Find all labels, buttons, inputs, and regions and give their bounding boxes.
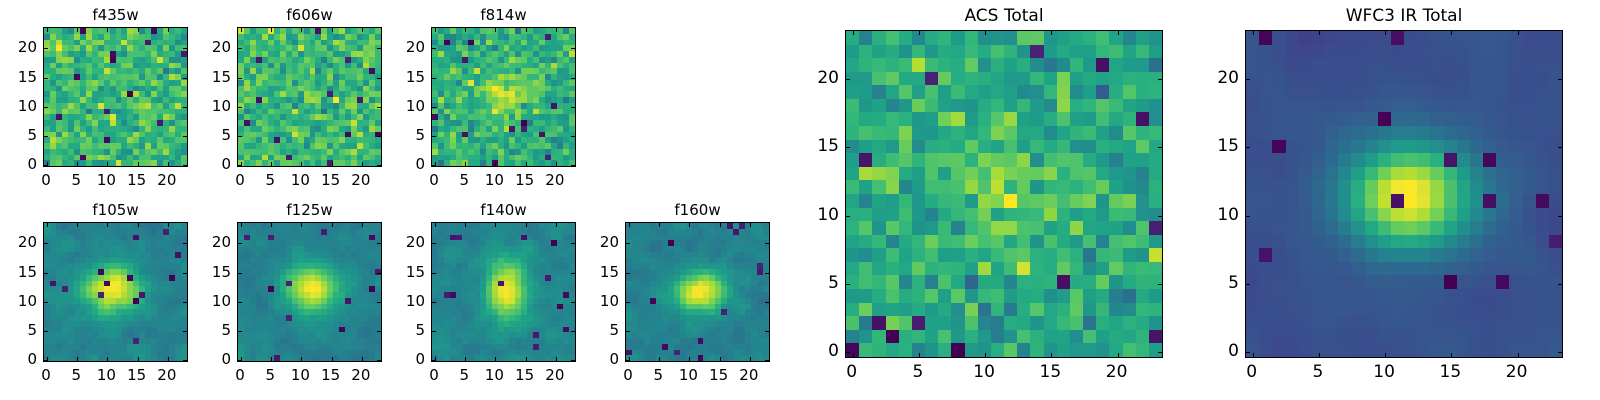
x-tick bbox=[107, 223, 108, 227]
x-tick-label: 20 bbox=[351, 171, 370, 189]
y-tick bbox=[183, 302, 187, 303]
panel-title: f814w bbox=[431, 6, 576, 24]
y-tick-label: 20 bbox=[201, 233, 231, 251]
y-tick-label: 10 bbox=[589, 292, 619, 310]
x-tick bbox=[138, 357, 139, 361]
heatmap-axes bbox=[845, 30, 1163, 358]
x-tick bbox=[271, 162, 272, 166]
x-tick bbox=[1518, 353, 1519, 357]
x-tick bbox=[1118, 353, 1119, 357]
y-tick bbox=[432, 165, 436, 166]
x-tick bbox=[985, 353, 986, 357]
y-tick bbox=[1246, 216, 1250, 217]
y-tick bbox=[1558, 147, 1562, 148]
y-tick bbox=[1558, 352, 1562, 353]
y-tick bbox=[377, 78, 381, 79]
y-tick bbox=[377, 136, 381, 137]
y-tick bbox=[238, 165, 242, 166]
x-tick bbox=[1253, 31, 1254, 35]
x-tick-label: 5 bbox=[1312, 362, 1323, 382]
heatmap-axes bbox=[625, 222, 770, 362]
x-tick bbox=[77, 28, 78, 32]
y-tick-label: 20 bbox=[1209, 68, 1239, 88]
y-tick bbox=[183, 331, 187, 332]
x-tick bbox=[107, 28, 108, 32]
y-tick-label: 5 bbox=[395, 321, 425, 339]
y-tick bbox=[432, 107, 436, 108]
y-tick-label: 10 bbox=[201, 97, 231, 115]
y-tick bbox=[1558, 284, 1562, 285]
y-tick-label: 15 bbox=[201, 263, 231, 281]
x-tick bbox=[301, 357, 302, 361]
x-tick-label: 15 bbox=[321, 171, 340, 189]
y-tick-label: 5 bbox=[201, 321, 231, 339]
x-tick bbox=[1051, 353, 1052, 357]
y-tick-label: 15 bbox=[7, 263, 37, 281]
y-tick bbox=[377, 302, 381, 303]
y-tick bbox=[183, 165, 187, 166]
x-tick bbox=[1051, 31, 1052, 35]
panel-title: f105w bbox=[43, 201, 188, 219]
y-tick-label: 20 bbox=[395, 38, 425, 56]
x-tick bbox=[629, 223, 630, 227]
y-tick-label: 10 bbox=[7, 292, 37, 310]
x-tick bbox=[1385, 353, 1386, 357]
heatmap-cells bbox=[432, 28, 575, 166]
y-tick bbox=[377, 243, 381, 244]
panel-title: f140w bbox=[431, 201, 576, 219]
x-tick bbox=[556, 162, 557, 166]
x-tick-label: 10 bbox=[485, 366, 504, 384]
y-tick bbox=[44, 331, 48, 332]
y-tick-label: 20 bbox=[7, 233, 37, 251]
y-tick bbox=[571, 331, 575, 332]
y-tick bbox=[238, 243, 242, 244]
x-tick-label: 20 bbox=[739, 366, 758, 384]
y-tick bbox=[432, 136, 436, 137]
y-tick bbox=[238, 136, 242, 137]
y-tick-label: 10 bbox=[395, 292, 425, 310]
x-tick-label: 0 bbox=[235, 171, 245, 189]
y-tick-label: 20 bbox=[809, 68, 839, 88]
heatmap-axes bbox=[431, 222, 576, 362]
y-tick bbox=[571, 78, 575, 79]
y-tick bbox=[377, 273, 381, 274]
y-tick bbox=[432, 360, 436, 361]
y-tick bbox=[626, 243, 630, 244]
x-tick-label: 5 bbox=[459, 171, 469, 189]
x-tick bbox=[138, 162, 139, 166]
heatmap-axes bbox=[43, 222, 188, 362]
x-tick bbox=[168, 223, 169, 227]
panel-title: f160w bbox=[625, 201, 770, 219]
y-tick bbox=[377, 360, 381, 361]
x-tick bbox=[241, 223, 242, 227]
x-tick bbox=[1385, 31, 1386, 35]
y-tick bbox=[1158, 284, 1162, 285]
x-tick bbox=[465, 28, 466, 32]
y-tick bbox=[183, 136, 187, 137]
y-tick-label: 10 bbox=[1209, 205, 1239, 225]
y-tick bbox=[571, 48, 575, 49]
y-tick bbox=[238, 107, 242, 108]
y-tick bbox=[44, 360, 48, 361]
x-tick-label: 0 bbox=[235, 366, 245, 384]
x-tick bbox=[271, 28, 272, 32]
x-tick-label: 5 bbox=[71, 171, 81, 189]
y-tick bbox=[1246, 147, 1250, 148]
x-tick-label: 20 bbox=[157, 171, 176, 189]
x-tick-label: 15 bbox=[321, 366, 340, 384]
x-tick bbox=[301, 162, 302, 166]
y-tick bbox=[183, 243, 187, 244]
x-tick-label: 20 bbox=[157, 366, 176, 384]
panel-f105w: f105w0055101015152020 bbox=[43, 222, 188, 362]
x-tick bbox=[720, 357, 721, 361]
x-tick bbox=[1319, 31, 1320, 35]
x-tick-label: 20 bbox=[545, 366, 564, 384]
y-tick bbox=[238, 302, 242, 303]
y-tick-label: 15 bbox=[809, 136, 839, 156]
y-tick-label: 0 bbox=[809, 341, 839, 361]
heatmap-axes bbox=[237, 27, 382, 167]
heatmap-cells bbox=[432, 223, 575, 361]
x-tick-label: 20 bbox=[545, 171, 564, 189]
y-tick bbox=[1158, 352, 1162, 353]
y-tick bbox=[183, 360, 187, 361]
y-tick-label: 5 bbox=[589, 321, 619, 339]
x-tick bbox=[853, 31, 854, 35]
x-tick bbox=[495, 223, 496, 227]
y-tick bbox=[1158, 216, 1162, 217]
y-tick-label: 0 bbox=[201, 350, 231, 368]
panel-title: f125w bbox=[237, 201, 382, 219]
x-tick bbox=[659, 357, 660, 361]
y-tick bbox=[44, 78, 48, 79]
y-tick-label: 20 bbox=[7, 38, 37, 56]
y-tick bbox=[571, 107, 575, 108]
y-tick bbox=[432, 243, 436, 244]
x-tick bbox=[47, 28, 48, 32]
x-tick bbox=[77, 357, 78, 361]
y-tick-label: 5 bbox=[809, 273, 839, 293]
x-tick bbox=[919, 353, 920, 357]
x-tick bbox=[1451, 31, 1452, 35]
y-tick-label: 0 bbox=[7, 350, 37, 368]
x-tick bbox=[332, 223, 333, 227]
y-tick bbox=[765, 273, 769, 274]
x-tick-label: 0 bbox=[846, 362, 857, 382]
x-tick-label: 10 bbox=[485, 171, 504, 189]
heatmap-cells bbox=[1246, 31, 1562, 357]
x-tick bbox=[168, 162, 169, 166]
x-tick bbox=[495, 162, 496, 166]
x-tick bbox=[1253, 353, 1254, 357]
x-tick bbox=[47, 223, 48, 227]
panel-wfc3-ir-total: WFC3 IR Total0055101015152020 bbox=[1245, 30, 1563, 358]
heatmap-cells bbox=[846, 31, 1162, 357]
x-tick-label: 5 bbox=[653, 366, 663, 384]
y-tick-label: 15 bbox=[7, 68, 37, 86]
y-tick bbox=[44, 243, 48, 244]
x-tick-label: 0 bbox=[41, 366, 51, 384]
y-tick bbox=[1246, 284, 1250, 285]
x-tick bbox=[138, 223, 139, 227]
x-tick-label: 0 bbox=[623, 366, 633, 384]
x-tick-label: 15 bbox=[127, 366, 146, 384]
x-tick bbox=[1451, 353, 1452, 357]
heatmap-cells bbox=[44, 28, 187, 166]
y-tick bbox=[1558, 79, 1562, 80]
x-tick bbox=[435, 223, 436, 227]
y-tick bbox=[1246, 79, 1250, 80]
y-tick-label: 20 bbox=[589, 233, 619, 251]
x-tick bbox=[435, 28, 436, 32]
y-tick bbox=[846, 352, 850, 353]
y-tick-label: 0 bbox=[7, 155, 37, 173]
y-tick-label: 5 bbox=[7, 126, 37, 144]
y-tick bbox=[44, 136, 48, 137]
x-tick-label: 0 bbox=[41, 171, 51, 189]
y-tick bbox=[238, 48, 242, 49]
y-tick bbox=[626, 302, 630, 303]
y-tick bbox=[571, 243, 575, 244]
x-tick bbox=[241, 28, 242, 32]
y-tick-label: 15 bbox=[1209, 136, 1239, 156]
y-tick bbox=[377, 331, 381, 332]
y-tick-label: 0 bbox=[589, 350, 619, 368]
x-tick bbox=[853, 353, 854, 357]
x-tick-label: 5 bbox=[265, 366, 275, 384]
y-tick-label: 5 bbox=[7, 321, 37, 339]
x-tick-label: 15 bbox=[515, 171, 534, 189]
y-tick bbox=[571, 273, 575, 274]
y-tick bbox=[238, 331, 242, 332]
x-tick bbox=[465, 357, 466, 361]
heatmap-axes bbox=[237, 222, 382, 362]
y-tick bbox=[765, 243, 769, 244]
y-tick-label: 0 bbox=[1209, 341, 1239, 361]
y-tick bbox=[846, 79, 850, 80]
panel-f606w: f606w0055101015152020 bbox=[237, 27, 382, 167]
x-tick bbox=[332, 28, 333, 32]
x-tick-label: 15 bbox=[709, 366, 728, 384]
x-tick-label: 5 bbox=[71, 366, 81, 384]
x-tick-label: 0 bbox=[429, 366, 439, 384]
y-tick-label: 15 bbox=[395, 263, 425, 281]
y-tick bbox=[44, 107, 48, 108]
x-tick bbox=[107, 162, 108, 166]
heatmap-cells bbox=[238, 28, 381, 166]
x-tick-label: 15 bbox=[127, 171, 146, 189]
y-tick bbox=[183, 273, 187, 274]
x-tick bbox=[526, 162, 527, 166]
y-tick-label: 0 bbox=[395, 350, 425, 368]
y-tick bbox=[377, 48, 381, 49]
y-tick bbox=[1558, 216, 1562, 217]
x-tick bbox=[168, 28, 169, 32]
y-tick bbox=[238, 78, 242, 79]
panel-title: f435w bbox=[43, 6, 188, 24]
y-tick-label: 0 bbox=[201, 155, 231, 173]
panel-f160w: f160w0055101015152020 bbox=[625, 222, 770, 362]
x-tick bbox=[301, 223, 302, 227]
y-tick bbox=[571, 360, 575, 361]
x-tick bbox=[107, 357, 108, 361]
x-tick bbox=[332, 162, 333, 166]
panel-title: WFC3 IR Total bbox=[1245, 6, 1563, 26]
y-tick bbox=[432, 302, 436, 303]
x-tick bbox=[556, 223, 557, 227]
y-tick bbox=[846, 284, 850, 285]
y-tick-label: 5 bbox=[395, 126, 425, 144]
x-tick bbox=[465, 223, 466, 227]
x-tick bbox=[465, 162, 466, 166]
x-tick bbox=[659, 223, 660, 227]
x-tick bbox=[556, 28, 557, 32]
x-tick-label: 10 bbox=[291, 171, 310, 189]
x-tick bbox=[362, 162, 363, 166]
x-tick bbox=[301, 28, 302, 32]
x-tick bbox=[1518, 31, 1519, 35]
y-tick-label: 10 bbox=[395, 97, 425, 115]
heatmap-axes bbox=[1245, 30, 1563, 358]
y-tick bbox=[765, 360, 769, 361]
heatmap-cells bbox=[626, 223, 769, 361]
x-tick bbox=[362, 357, 363, 361]
x-tick bbox=[271, 223, 272, 227]
y-tick-label: 15 bbox=[589, 263, 619, 281]
y-tick-label: 5 bbox=[201, 126, 231, 144]
x-tick bbox=[526, 223, 527, 227]
y-tick bbox=[432, 331, 436, 332]
y-tick-label: 15 bbox=[395, 68, 425, 86]
x-tick bbox=[919, 31, 920, 35]
x-tick-label: 10 bbox=[97, 366, 116, 384]
x-tick-label: 5 bbox=[912, 362, 923, 382]
x-tick bbox=[332, 357, 333, 361]
panel-title: f606w bbox=[237, 6, 382, 24]
x-tick bbox=[985, 31, 986, 35]
heatmap-axes bbox=[43, 27, 188, 167]
x-tick-label: 5 bbox=[265, 171, 275, 189]
x-tick-label: 15 bbox=[515, 366, 534, 384]
x-tick-label: 10 bbox=[291, 366, 310, 384]
panel-title: ACS Total bbox=[845, 6, 1163, 26]
y-tick bbox=[183, 48, 187, 49]
x-tick-label: 10 bbox=[679, 366, 698, 384]
panel-f140w: f140w0055101015152020 bbox=[431, 222, 576, 362]
y-tick bbox=[765, 302, 769, 303]
x-tick-label: 15 bbox=[1440, 362, 1462, 382]
x-tick bbox=[271, 357, 272, 361]
y-tick bbox=[44, 165, 48, 166]
x-tick-label: 0 bbox=[429, 171, 439, 189]
x-tick bbox=[495, 357, 496, 361]
y-tick bbox=[44, 302, 48, 303]
panel-acs-total: ACS Total0055101015152020 bbox=[845, 30, 1163, 358]
x-tick-label: 10 bbox=[1373, 362, 1395, 382]
y-tick bbox=[432, 48, 436, 49]
x-tick bbox=[495, 28, 496, 32]
y-tick bbox=[626, 331, 630, 332]
heatmap-cells bbox=[238, 223, 381, 361]
x-tick bbox=[556, 357, 557, 361]
y-tick bbox=[1158, 79, 1162, 80]
y-tick-label: 0 bbox=[395, 155, 425, 173]
y-tick bbox=[238, 273, 242, 274]
x-tick bbox=[77, 162, 78, 166]
x-tick bbox=[689, 357, 690, 361]
y-tick bbox=[44, 48, 48, 49]
y-tick bbox=[571, 165, 575, 166]
heatmap-axes bbox=[431, 27, 576, 167]
y-tick-label: 20 bbox=[395, 233, 425, 251]
y-tick bbox=[432, 273, 436, 274]
y-tick bbox=[377, 165, 381, 166]
y-tick bbox=[1246, 352, 1250, 353]
x-tick bbox=[362, 223, 363, 227]
x-tick bbox=[362, 28, 363, 32]
x-tick bbox=[720, 223, 721, 227]
y-tick bbox=[377, 107, 381, 108]
y-tick bbox=[765, 331, 769, 332]
y-tick-label: 5 bbox=[1209, 273, 1239, 293]
y-tick bbox=[44, 273, 48, 274]
x-tick bbox=[1319, 353, 1320, 357]
x-tick-label: 0 bbox=[1246, 362, 1257, 382]
y-tick bbox=[183, 107, 187, 108]
y-tick-label: 20 bbox=[201, 38, 231, 56]
x-tick bbox=[689, 223, 690, 227]
y-tick bbox=[571, 136, 575, 137]
y-tick bbox=[626, 273, 630, 274]
panel-f125w: f125w0055101015152020 bbox=[237, 222, 382, 362]
x-tick bbox=[526, 357, 527, 361]
y-tick-label: 10 bbox=[201, 292, 231, 310]
y-tick bbox=[238, 360, 242, 361]
x-tick-label: 5 bbox=[459, 366, 469, 384]
y-tick-label: 10 bbox=[7, 97, 37, 115]
y-tick bbox=[626, 360, 630, 361]
y-tick bbox=[571, 302, 575, 303]
panel-f435w: f435w0055101015152020 bbox=[43, 27, 188, 167]
x-tick bbox=[750, 357, 751, 361]
y-tick bbox=[846, 216, 850, 217]
x-tick-label: 10 bbox=[973, 362, 995, 382]
x-tick-label: 15 bbox=[1040, 362, 1062, 382]
x-tick bbox=[750, 223, 751, 227]
x-tick bbox=[168, 357, 169, 361]
x-tick-label: 20 bbox=[1506, 362, 1528, 382]
y-tick bbox=[432, 78, 436, 79]
panel-f814w: f814w0055101015152020 bbox=[431, 27, 576, 167]
y-tick bbox=[183, 78, 187, 79]
x-tick bbox=[77, 223, 78, 227]
y-tick-label: 10 bbox=[809, 205, 839, 225]
x-tick bbox=[138, 28, 139, 32]
y-tick bbox=[1158, 147, 1162, 148]
x-tick-label: 20 bbox=[1106, 362, 1128, 382]
heatmap-cells bbox=[44, 223, 187, 361]
x-tick bbox=[1118, 31, 1119, 35]
x-tick-label: 10 bbox=[97, 171, 116, 189]
x-tick bbox=[526, 28, 527, 32]
x-tick-label: 20 bbox=[351, 366, 370, 384]
y-tick bbox=[846, 147, 850, 148]
y-tick-label: 15 bbox=[201, 68, 231, 86]
